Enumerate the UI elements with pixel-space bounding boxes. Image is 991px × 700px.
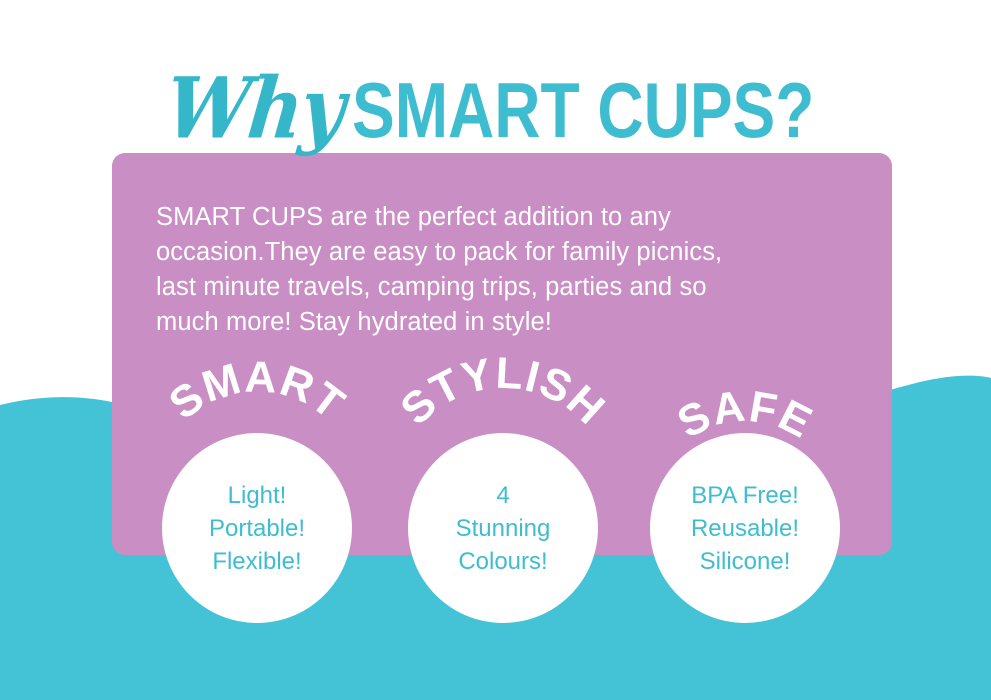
badge-text-lines: BPA Free! Reusable! Silicone! [650,433,840,623]
badge-line: 4 [496,479,509,512]
promo-poster: Why SMART CUPS? SMART CUPS are the perfe… [0,0,991,700]
svg-text:SMART: SMART [160,353,353,430]
feature-badge-stylish: STYLISH 4 Stunning Colours! [383,378,623,638]
svg-text:STYLISH: STYLISH [391,349,614,435]
badge-arc-label: STYLISH [391,349,614,435]
badge-line: Portable! [209,512,305,545]
badge-line: Colours! [458,545,547,578]
badge-line: BPA Free! [691,479,799,512]
feature-badge-safe: SAFE BPA Free! Reusable! Silicone! [625,378,865,638]
badge-arc-label: SMART [160,353,353,430]
badge-text-lines: Light! Portable! Flexible! [162,433,352,623]
badge-line: Stunning [456,512,551,545]
badge-line: Silicone! [700,545,791,578]
feature-badge-smart: SMART Light! Portable! Flexible! [137,378,377,638]
feature-badges: SMART Light! Portable! Flexible! STYLISH [0,0,991,700]
badge-line: Light! [228,479,287,512]
badge-text-lines: 4 Stunning Colours! [408,433,598,623]
badge-line: Flexible! [212,545,301,578]
badge-line: Reusable! [691,512,799,545]
